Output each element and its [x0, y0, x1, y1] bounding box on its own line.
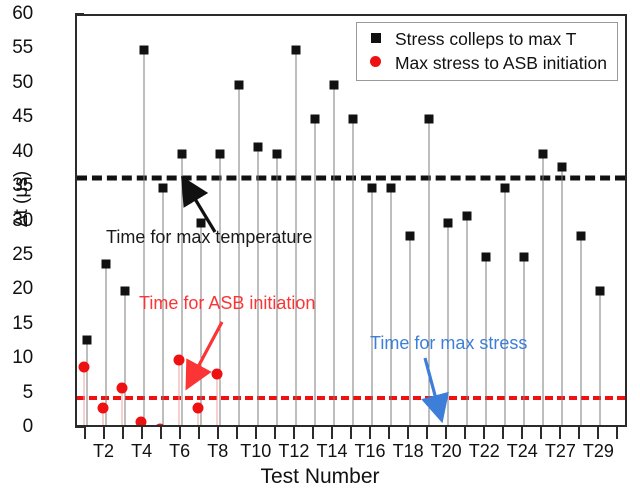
data-stem: [276, 154, 277, 425]
x-tick: [616, 427, 618, 439]
x-tick: [293, 427, 295, 439]
data-point-square: [577, 232, 586, 241]
data-point-circle: [135, 417, 146, 425]
data-stem-red: [83, 367, 84, 425]
x-tick: [445, 427, 447, 439]
data-point-square: [158, 184, 167, 193]
data-point-square: [310, 115, 319, 124]
annotation-asb-initiation: Time for ASB initiation: [139, 293, 315, 314]
data-point-square: [329, 80, 338, 89]
legend-item-stress-colleps: Stress colleps to max T: [363, 27, 607, 51]
x-tick: [103, 427, 105, 439]
x-tick: [597, 427, 599, 439]
data-point-square: [82, 335, 91, 344]
data-stem: [600, 291, 601, 425]
data-stem: [200, 223, 201, 426]
x-tick: [521, 427, 523, 439]
data-stem: [124, 291, 125, 425]
legend-label: Max stress to ASB initiation: [389, 53, 607, 74]
data-point-circle: [97, 403, 108, 414]
data-point-square: [253, 142, 262, 151]
annotation-max-stress: Time for max stress: [370, 333, 527, 354]
x-tick-label: T14: [316, 441, 347, 462]
data-stem: [372, 188, 373, 425]
x-tick: [122, 427, 124, 439]
x-tick: [179, 427, 181, 439]
data-stem: [581, 236, 582, 425]
data-point-square: [196, 218, 205, 227]
x-tick: [141, 427, 143, 439]
data-point-square: [215, 149, 224, 158]
data-point-circle: [211, 368, 222, 379]
x-tick: [407, 427, 409, 439]
data-stem: [429, 119, 430, 425]
x-tick-label: T10: [240, 441, 271, 462]
data-stem: [105, 264, 106, 425]
x-tick-label: T6: [169, 441, 190, 462]
plot-area: Stress colleps to max T Max stress to AS…: [75, 14, 627, 427]
data-stem-red: [178, 360, 179, 425]
data-stem: [448, 223, 449, 426]
x-tick-label: T12: [278, 441, 309, 462]
y-tick-label: 45: [12, 106, 33, 128]
data-stem: [467, 216, 468, 425]
annotation-max-temperature: Time for max temperature: [106, 227, 312, 248]
data-point-square: [234, 80, 243, 89]
y-tick-label: 50: [12, 72, 33, 94]
y-tick-label: 40: [12, 141, 33, 163]
x-tick: [331, 427, 333, 439]
x-axis-title: Test Number: [0, 465, 640, 489]
x-tick: [578, 427, 580, 439]
data-stem: [314, 119, 315, 425]
y-tick-label: 0: [23, 416, 33, 438]
circle-marker-icon: [363, 54, 389, 72]
y-tick-label: 10: [12, 347, 33, 369]
y-tick-label: 25: [12, 244, 33, 266]
x-tick: [217, 427, 219, 439]
data-point-circle: [173, 355, 184, 366]
data-stem: [238, 85, 239, 425]
data-stem: [562, 167, 563, 425]
data-point-square: [120, 287, 129, 296]
data-stem: [543, 154, 544, 425]
x-tick: [559, 427, 561, 439]
data-point-square: [387, 184, 396, 193]
x-tick-label: T18: [393, 441, 424, 462]
x-tick: [236, 427, 238, 439]
data-point-square: [272, 149, 281, 158]
data-point-square: [406, 232, 415, 241]
x-tick: [84, 427, 86, 439]
y-tick-label: 60: [12, 3, 33, 25]
data-stem: [391, 188, 392, 425]
chart-figure: Δt (μs) 051015202530354045505560 Stress …: [0, 0, 640, 501]
data-point-square: [425, 115, 434, 124]
x-tick-label: T16: [355, 441, 386, 462]
x-tick-label: T20: [431, 441, 462, 462]
data-stem: [410, 236, 411, 425]
x-tick: [502, 427, 504, 439]
data-point-circle: [116, 382, 127, 393]
data-point-square: [444, 218, 453, 227]
data-point-square: [291, 46, 300, 55]
data-point-square: [139, 46, 148, 55]
data-stem: [86, 340, 87, 425]
x-tick: [483, 427, 485, 439]
x-tick: [369, 427, 371, 439]
y-tick-label: 35: [12, 175, 33, 197]
x-tick-label: T22: [469, 441, 500, 462]
data-point-circle: [78, 362, 89, 373]
data-stem: [505, 188, 506, 425]
legend-item-max-stress-asb: Max stress to ASB initiation: [363, 51, 607, 75]
data-point-circle: [192, 403, 203, 414]
x-tick: [160, 427, 162, 439]
data-stem: [181, 154, 182, 425]
legend-label: Stress colleps to max T: [389, 29, 577, 50]
data-stem: [353, 119, 354, 425]
x-tick: [464, 427, 466, 439]
y-tick-label: 5: [23, 382, 33, 404]
x-tick: [426, 427, 428, 439]
data-point-square: [368, 184, 377, 193]
x-tick-label: T8: [207, 441, 228, 462]
data-point-square: [539, 149, 548, 158]
y-tick-label: 20: [12, 278, 33, 300]
x-tick-label: T24: [507, 441, 538, 462]
data-stem: [333, 85, 334, 425]
data-point-square: [558, 163, 567, 172]
y-tick-label: 55: [12, 37, 33, 59]
x-tick: [350, 427, 352, 439]
square-marker-icon: [363, 30, 389, 48]
y-tick-label: 30: [12, 210, 33, 232]
data-point-square: [520, 252, 529, 261]
data-stem-red: [121, 388, 122, 425]
data-stem-red: [216, 374, 217, 425]
x-tick-label: T2: [93, 441, 114, 462]
legend: Stress colleps to max T Max stress to AS…: [356, 22, 618, 81]
data-stem: [219, 154, 220, 425]
x-tick-label: T4: [131, 441, 152, 462]
data-point-square: [463, 211, 472, 220]
data-point-square: [501, 184, 510, 193]
x-tick-label: T27: [545, 441, 576, 462]
y-tick-label: 15: [12, 313, 33, 335]
data-point-square: [482, 252, 491, 261]
data-point-square: [101, 259, 110, 268]
x-tick: [274, 427, 276, 439]
x-tick: [312, 427, 314, 439]
data-point-circle: [154, 424, 165, 426]
data-point-square: [349, 115, 358, 124]
x-tick: [540, 427, 542, 439]
x-tick: [388, 427, 390, 439]
data-point-square: [177, 149, 186, 158]
data-point-square: [596, 287, 605, 296]
x-tick: [198, 427, 200, 439]
x-tick-label: T29: [583, 441, 614, 462]
x-tick: [255, 427, 257, 439]
y-axis: 051015202530354045505560: [0, 0, 75, 441]
data-stem: [257, 147, 258, 425]
